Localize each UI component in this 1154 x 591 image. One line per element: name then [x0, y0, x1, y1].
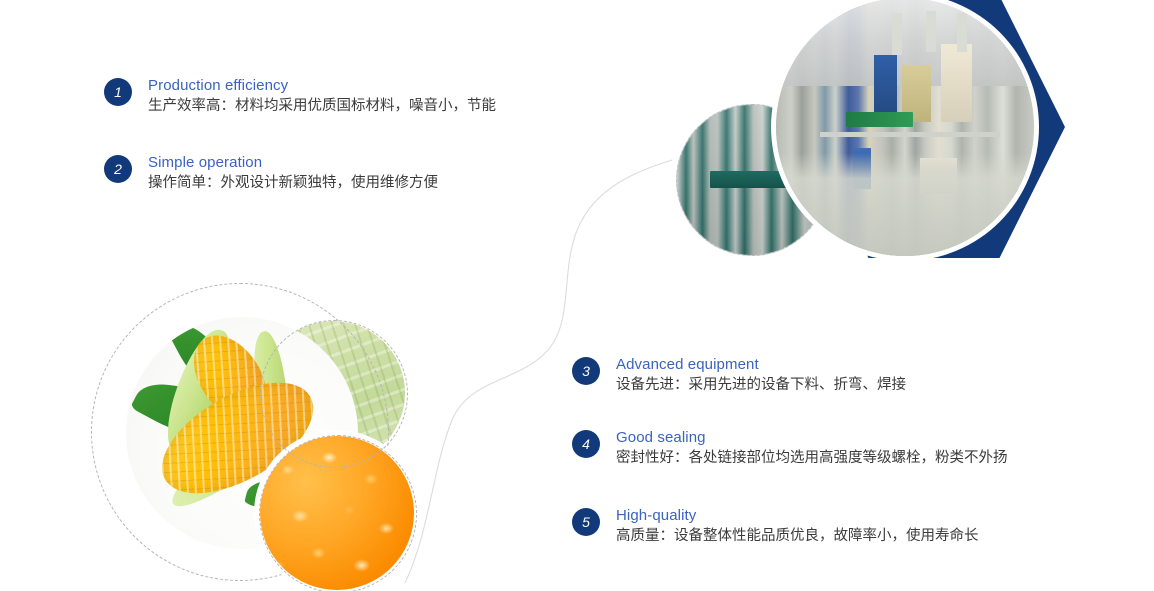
feature-description-1: 生产效率高：材料均采用优质国标材料，噪音小，节能	[148, 96, 496, 117]
feature-item-2[interactable]: 2 Simple operation 操作简单：外观设计新颖独特，使用维修方便	[104, 153, 438, 194]
feature-item-4[interactable]: 4 Good sealing 密封性好：各处链接部位均选用高强度等级螺栓，粉类不…	[572, 428, 1008, 469]
feature-item-1[interactable]: 1 Production efficiency 生产效率高：材料均采用优质国标材…	[104, 76, 496, 117]
feature-item-3[interactable]: 3 Advanced equipment 设备先进：采用先进的设备下料、折弯、焊…	[572, 355, 906, 396]
feature-text-2: Simple operation 操作简单：外观设计新颖独特，使用维修方便	[148, 153, 438, 194]
feature-text-4: Good sealing 密封性好：各处链接部位均选用高强度等级螺栓，粉类不外扬	[616, 428, 1008, 469]
feature-title-1: Production efficiency	[148, 76, 496, 95]
corn-photo-group	[80, 275, 480, 591]
feature-number-badge-4: 4	[572, 430, 600, 458]
feature-item-5[interactable]: 5 High-quality 高质量：设备整体性能品质优良，故障率小，使用寿命长	[572, 506, 979, 547]
feature-title-3: Advanced equipment	[616, 355, 906, 374]
feature-number-badge-3: 3	[572, 357, 600, 385]
feature-number-badge-5: 5	[572, 508, 600, 536]
feature-text-1: Production efficiency 生产效率高：材料均采用优质国标材料，…	[148, 76, 496, 117]
flour-mill-plant-photo	[776, 0, 1034, 256]
feature-description-3: 设备先进：采用先进的设备下料、折弯、焊接	[616, 375, 906, 396]
feature-title-5: High-quality	[616, 506, 979, 525]
feature-text-5: High-quality 高质量：设备整体性能品质优良，故障率小，使用寿命长	[616, 506, 979, 547]
feature-description-5: 高质量：设备整体性能品质优良，故障率小，使用寿命长	[616, 526, 979, 547]
mill-photo-group	[660, 0, 1154, 290]
flour-mill-image	[776, 0, 1034, 256]
feature-title-4: Good sealing	[616, 428, 1008, 447]
mill-machinery-details	[776, 0, 1034, 256]
infographic-stage: 1 Production efficiency 生产效率高：材料均采用优质国标材…	[0, 0, 1154, 591]
feature-description-2: 操作简单：外观设计新颖独特，使用维修方便	[148, 173, 438, 194]
feature-description-4: 密封性好：各处链接部位均选用高强度等级螺栓，粉类不外扬	[616, 448, 1008, 469]
orange-circle-dashed-ring	[259, 435, 417, 591]
feature-number-badge-2: 2	[104, 155, 132, 183]
feature-text-3: Advanced equipment 设备先进：采用先进的设备下料、折弯、焊接	[616, 355, 906, 396]
feature-title-2: Simple operation	[148, 153, 438, 172]
feature-number-badge-1: 1	[104, 78, 132, 106]
